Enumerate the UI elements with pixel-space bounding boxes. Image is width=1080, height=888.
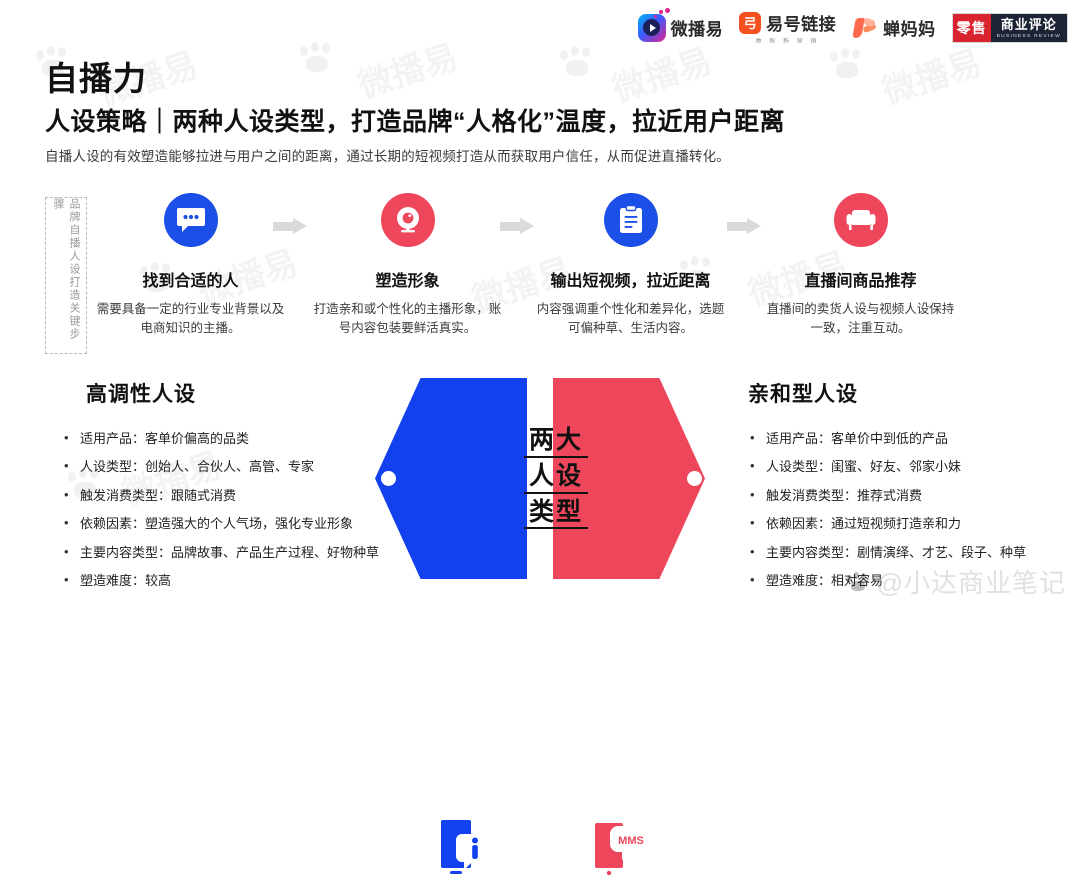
step-arrow-3 bbox=[727, 218, 763, 234]
chanmama-mark-icon bbox=[852, 16, 878, 40]
logo-lingshou-label: 零售 bbox=[953, 14, 991, 42]
paw-watermark-icon bbox=[560, 46, 602, 78]
list-item: 依赖因素：通过短视频打造亲和力 bbox=[748, 515, 1078, 533]
persona-left-column: 高调性人设 适用产品：客单价偏高的品类 人设类型：创始人、合伙人、高管、专家 触… bbox=[62, 378, 392, 601]
phone-info-icon bbox=[432, 810, 498, 888]
persona-comparison: MMS 两大 人设 类型 高调性人设 适用产品：客单价偏高的品类 人设类型：创始… bbox=[0, 378, 1080, 593]
list-item: 适用产品：客单价偏高的品类 bbox=[62, 430, 392, 448]
step-3-desc: 内容强调重个性化和差异化，选题可偏种草、生活内容。 bbox=[533, 300, 728, 338]
persona-center-line-2: 人设 bbox=[524, 462, 588, 494]
logo-chanmama: 蝉妈妈 bbox=[852, 15, 936, 40]
persona-right-hexagon-dot bbox=[687, 471, 702, 486]
speech-bubble-icon bbox=[164, 193, 218, 247]
list-item: 人设类型：创始人、合伙人、高管、专家 bbox=[62, 458, 392, 476]
persona-right-heading: 亲和型人设 bbox=[748, 378, 1078, 408]
step-2-desc: 打造亲和或个性化的主播形象，账号内容包装要鲜活真实。 bbox=[310, 300, 505, 338]
logo-yihaolianjie-label: 易号链接 bbox=[766, 10, 836, 35]
watermark-text: 微播易 bbox=[605, 33, 717, 111]
sofa-icon bbox=[834, 193, 888, 247]
persona-center-line-3: 类型 bbox=[524, 498, 588, 530]
clipboard-icon bbox=[604, 193, 658, 247]
corner-watermark-text: @小达商业笔记 bbox=[877, 563, 1066, 600]
paw-icon bbox=[847, 572, 873, 592]
persona-center-title: 两大 人设 类型 bbox=[524, 426, 588, 533]
logo-weiboyi-label: 微播易 bbox=[671, 15, 724, 40]
list-item: 适用产品：客单价中到低的产品 bbox=[748, 430, 1078, 448]
logo-business-review-label: BUSINESS REVIEW bbox=[997, 33, 1061, 38]
step-4-desc: 直播间的卖货人设与视频人设保持一致，注重互动。 bbox=[763, 300, 958, 338]
page-lede: 自播人设的有效塑造能够拉进与用户之间的距离，通过长期的短视频打造从而获取用户信任… bbox=[45, 145, 730, 165]
phone-mms-label: MMS bbox=[618, 835, 644, 847]
yihaolianjie-mark-icon: 弓 bbox=[739, 12, 761, 34]
step-3-title: 输出短视频，拉近距离 bbox=[533, 267, 728, 291]
logo-chanmama-label: 蝉妈妈 bbox=[883, 15, 936, 40]
list-item: 主要内容类型：品牌故事、产品生产过程、好物种草 bbox=[62, 544, 392, 562]
logo-yihaolianjie: 弓 易号链接 数 智 新 营 销 bbox=[739, 10, 836, 45]
paw-watermark-icon bbox=[300, 42, 342, 74]
step-2: 塑造形象 打造亲和或个性化的主播形象，账号内容包装要鲜活真实。 bbox=[310, 193, 505, 338]
logo-lingshou-shangye-pinglun: 零售 商业评论 BUSINESS REVIEW bbox=[952, 13, 1068, 43]
step-1-title: 找到合适的人 bbox=[93, 267, 288, 291]
watermark-text: 微播易 bbox=[351, 29, 463, 107]
list-item: 依赖因素：塑造强大的个人气场，强化专业形象 bbox=[62, 515, 392, 533]
step-arrow-1 bbox=[273, 218, 309, 234]
persona-left-hexagon bbox=[375, 378, 527, 579]
logo-shangye-pinglun-label: 商业评论 bbox=[1001, 18, 1057, 31]
step-1-desc: 需要具备一定的行业专业背景以及电商知识的主播。 bbox=[93, 300, 288, 338]
step-4: 直播间商品推荐 直播间的卖货人设与视频人设保持一致，注重互动。 bbox=[763, 193, 958, 338]
webcam-icon bbox=[381, 193, 435, 247]
step-4-title: 直播间商品推荐 bbox=[763, 267, 958, 291]
list-item: 人设类型：闺蜜、好友、邻家小妹 bbox=[748, 458, 1078, 476]
slide: 微播易 微播易 微播易 微播易 微播易 微播易 微播易 微播易 微播易 bbox=[0, 0, 1080, 608]
list-item: 主要内容类型：剧情演绎、才艺、段子、种草 bbox=[748, 544, 1078, 562]
persona-center-line-1: 两大 bbox=[524, 426, 588, 458]
list-item: 塑造难度：较高 bbox=[62, 572, 392, 590]
corner-watermark: @小达商业笔记 bbox=[847, 563, 1066, 600]
watermark-text: 微播易 bbox=[875, 35, 987, 113]
weiboyi-play-icon bbox=[638, 14, 666, 42]
logo-yihaolianjie-sub: 数 智 新 营 销 bbox=[756, 37, 820, 45]
page-title: 自播力 bbox=[45, 52, 147, 100]
list-item: 触发消费类型：推荐式消费 bbox=[748, 487, 1078, 505]
weiboyi-dots-icon bbox=[652, 8, 672, 22]
step-1: 找到合适的人 需要具备一定的行业专业背景以及电商知识的主播。 bbox=[93, 193, 288, 338]
phone-mms-icon: MMS bbox=[588, 812, 652, 886]
persona-left-heading: 高调性人设 bbox=[86, 378, 392, 408]
partner-logos: 微播易 弓 易号链接 数 智 新 营 销 蝉妈妈 零售 商业评论 BUSINES… bbox=[638, 10, 1068, 45]
page-subtitle: 人设策略｜两种人设类型，打造品牌“人格化”温度，拉近用户距离 bbox=[45, 102, 785, 138]
steps-vertical-label-text: 品牌自播人设打造关键步骤 bbox=[50, 198, 82, 353]
steps-section: 品牌自播人设打造关键步骤 找到合适的人 需要具备一定的行业专业背景以及电商知识的… bbox=[45, 193, 1035, 361]
persona-left-list: 适用产品：客单价偏高的品类 人设类型：创始人、合伙人、高管、专家 触发消费类型：… bbox=[62, 430, 392, 591]
step-arrow-2 bbox=[500, 218, 536, 234]
step-2-title: 塑造形象 bbox=[310, 267, 505, 291]
paw-watermark-icon bbox=[830, 48, 872, 80]
steps-vertical-label: 品牌自播人设打造关键步骤 bbox=[45, 197, 87, 354]
step-3: 输出短视频，拉近距离 内容强调重个性化和差异化，选题可偏种草、生活内容。 bbox=[533, 193, 728, 338]
list-item: 触发消费类型：跟随式消费 bbox=[62, 487, 392, 505]
logo-weiboyi: 微播易 bbox=[638, 14, 724, 42]
